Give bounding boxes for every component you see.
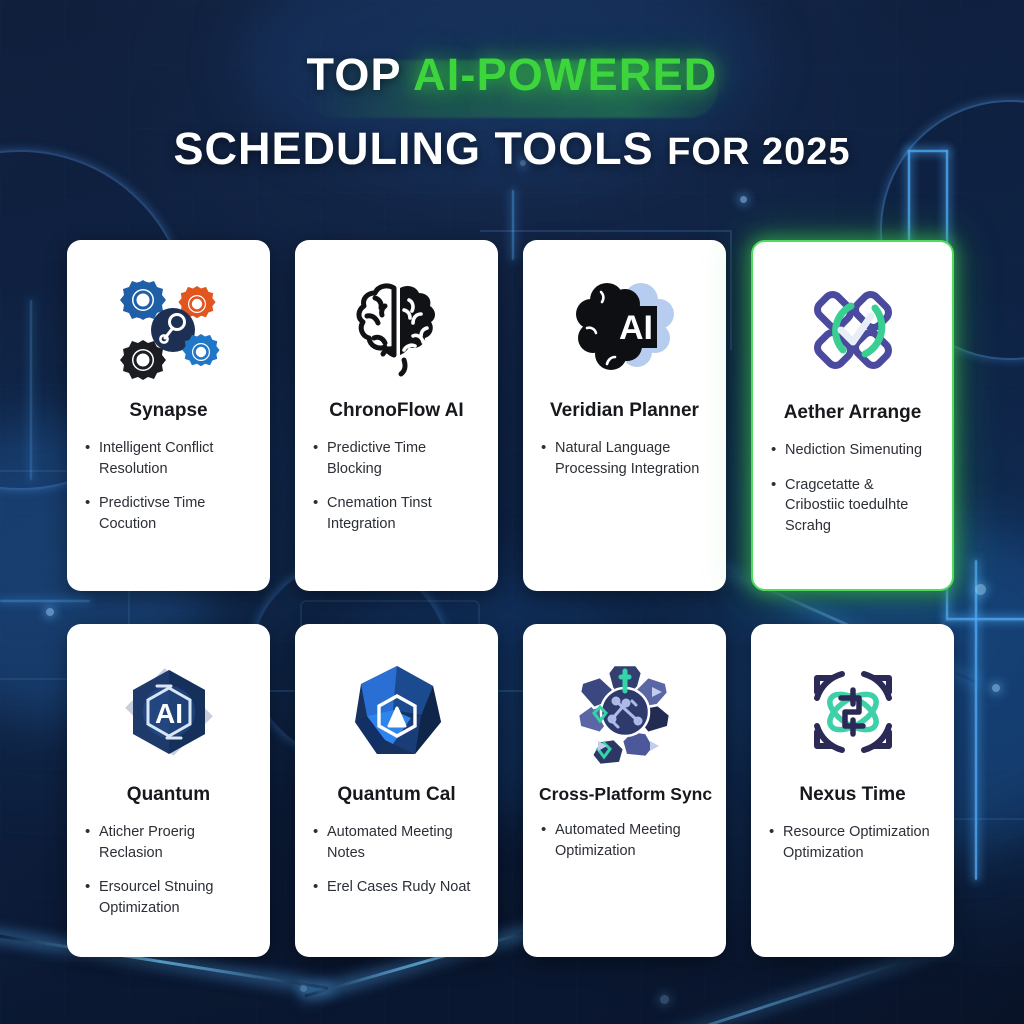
background-circuit-line	[30, 300, 32, 480]
heading-line-1: TOP AI-POWERED	[0, 52, 1024, 97]
card-feature-list: Intelligent Conflict Resolution Predicti…	[83, 438, 254, 549]
background-dot	[660, 995, 669, 1004]
feature-item: Natural Language Processing Integration	[539, 438, 710, 479]
ai-badge-icon: AI	[83, 646, 254, 778]
feature-item: Automated Meeting Optimization	[539, 820, 710, 861]
background-soft-line	[480, 230, 730, 232]
card-title: ChronoFlow AI	[311, 400, 482, 422]
tool-card-grid: Synapse Intelligent Conflict Resolution …	[67, 240, 957, 957]
card-feature-list: Natural Language Processing Integration	[539, 438, 710, 493]
card-feature-list: Resource Optimization Optimization	[767, 822, 938, 877]
background-dot	[46, 608, 54, 616]
heading-prefix: TOP	[306, 49, 413, 100]
feature-item: Resource Optimization Optimization	[767, 822, 938, 863]
tool-card[interactable]: Synapse Intelligent Conflict Resolution …	[67, 240, 270, 591]
feature-item: Nediction Simenuting	[769, 440, 936, 461]
feature-item: Predictivse Time Cocution	[83, 493, 254, 534]
card-feature-list: Aticher Proerig Reclasion Ersourcel Stnu…	[83, 822, 254, 933]
card-title: Aether Arrange	[769, 402, 936, 424]
ai-brain-icon: AI	[539, 262, 710, 394]
tool-card-featured[interactable]: Aether Arrange Nediction Simenuting Crag…	[751, 240, 954, 591]
feature-item: Cnemation Tinst Integration	[311, 493, 482, 534]
polyhedron-icon	[311, 646, 482, 778]
background-dot	[975, 584, 986, 595]
card-title: Synapse	[83, 400, 254, 422]
feature-item: Predictive Time Blocking	[311, 438, 482, 479]
tool-card[interactable]: AI Veridian Planner Natural Language Pro…	[523, 240, 726, 591]
background-dot	[300, 985, 307, 992]
tool-card[interactable]: AI Quantum Aticher Proerig Reclasion Ers…	[67, 624, 270, 957]
heading-main-text: SCHEDULING TOOLS	[173, 123, 667, 174]
tool-card[interactable]: Cross-Platform Sync Automated Meeting Op…	[523, 624, 726, 957]
card-feature-list: Automated Meeting Notes Erel Cases Rudy …	[311, 822, 482, 912]
feature-item: Aticher Proerig Reclasion	[83, 822, 254, 863]
svg-text:AI: AI	[619, 309, 653, 347]
card-title: Cross-Platform Sync	[539, 784, 710, 804]
page-heading: TOP AI-POWERED SCHEDULING TOOLS FOR 2025	[0, 52, 1024, 175]
heading-suffix-text: FOR 2025	[667, 131, 850, 173]
card-feature-list: Nediction Simenuting Cragcetatte & Cribo…	[769, 440, 936, 551]
feature-item: Cragcetatte & Cribostiic toedulhte Scrah…	[769, 475, 936, 537]
heading-highlight-text: AI-POWERED	[413, 49, 718, 100]
background-circuit-line	[975, 560, 977, 880]
card-title: Quantum Cal	[311, 784, 482, 806]
platform-hub-icon	[539, 646, 710, 778]
card-feature-list: Automated Meeting Optimization	[539, 820, 710, 875]
card-title: Veridian Planner	[539, 400, 710, 422]
svg-text:AI: AI	[155, 698, 183, 729]
card-title: Quantum	[83, 784, 254, 806]
feature-item: Ersourcel Stnuing Optimization	[83, 877, 254, 918]
tool-card[interactable]: ChronoFlow AI Predictive Time Blocking C…	[295, 240, 498, 591]
tool-card[interactable]: Quantum Cal Automated Meeting Notes Erel…	[295, 624, 498, 957]
feature-item: Erel Cases Rudy Noat	[311, 877, 482, 898]
background-dot	[740, 196, 747, 203]
brain-icon	[311, 262, 482, 394]
feature-item: Intelligent Conflict Resolution	[83, 438, 254, 479]
tool-card[interactable]: Nexus Time Resource Optimization Optimiz…	[751, 624, 954, 957]
heading-line-2: SCHEDULING TOOLS FOR 2025	[0, 123, 1024, 175]
card-feature-list: Predictive Time Blocking Cnemation Tinst…	[311, 438, 482, 549]
nexus-orbit-icon	[767, 646, 938, 778]
card-title: Nexus Time	[767, 784, 938, 806]
gears-cluster-icon	[83, 262, 254, 394]
interlocking-nodes-icon	[769, 264, 936, 396]
background-circuit-line	[946, 618, 1024, 620]
background-dot	[992, 684, 1000, 692]
feature-item: Automated Meeting Notes	[311, 822, 482, 863]
